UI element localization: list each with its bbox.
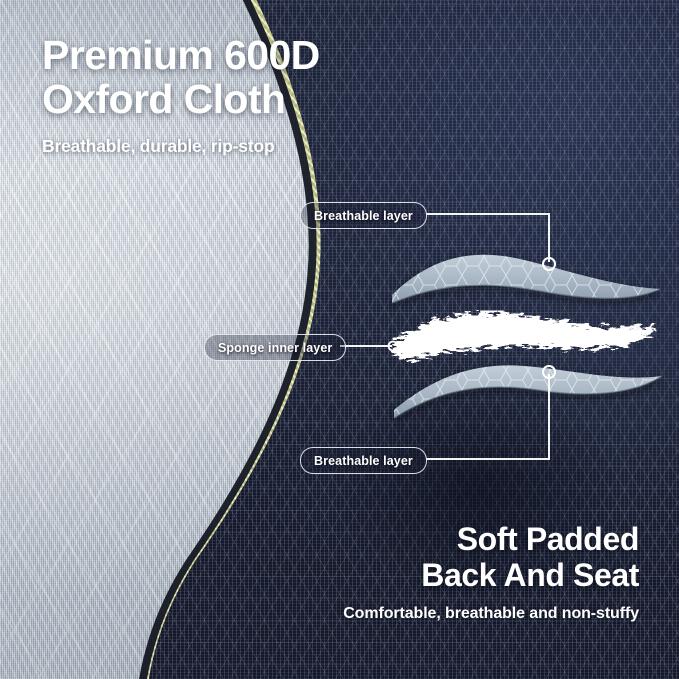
footer-block: Soft Padded Back And Seat Comfortable, b… (343, 522, 639, 623)
layer-lower-breathable (394, 365, 662, 418)
callout-sponge-inner: Sponge inner layer (204, 334, 346, 361)
callout-breathable-bottom: Breathable layer (300, 447, 427, 474)
layer-upper-breathable (392, 255, 660, 303)
callout-breathable-top: Breathable layer (300, 202, 427, 229)
footer-title: Soft Padded Back And Seat (343, 522, 639, 594)
headline-subtitle: Breathable, durable, rip-stop (42, 136, 422, 157)
footer-subtitle: Comfortable, breathable and non-stuffy (343, 605, 639, 623)
leader-breathable-top (426, 214, 549, 262)
headline-title: Premium 600D Oxford Cloth (42, 34, 422, 122)
layer-sponge-inner (394, 313, 656, 361)
product-feature-image: Premium 600D Oxford Cloth Breathable, du… (0, 0, 679, 679)
headline-block: Premium 600D Oxford Cloth Breathable, du… (42, 34, 422, 157)
